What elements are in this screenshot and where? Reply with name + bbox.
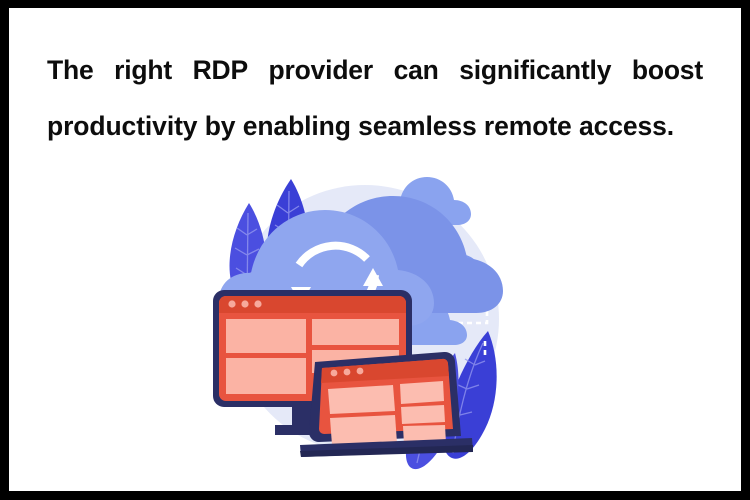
headline-word: The [47,42,94,98]
content-panel [226,319,306,353]
headline-line-2: productivity by enabling seamless remote… [47,98,703,154]
headline-word: provider [269,42,373,98]
window-dots [228,300,261,307]
image-frame: The right RDP provider can significantly… [0,0,750,500]
content-panel [328,385,395,414]
headline-word: right [114,42,172,98]
content-panel [312,319,399,345]
content-panel [400,381,444,404]
headline-word: RDP [193,42,248,98]
window-dot-icon [241,300,248,307]
window-dot-icon [331,370,338,377]
headline-line-1: The right RDP provider can significantly… [47,42,703,98]
headline-word: significantly [459,42,611,98]
headline-word: can [394,42,439,98]
window-dot-icon [344,369,351,376]
image-canvas: The right RDP provider can significantly… [9,8,741,491]
laptop [300,352,473,457]
content-panel [401,405,445,424]
content-panel [226,358,306,394]
headline-word: boost [632,42,703,98]
cloud-remote-desktop-illustration [195,163,535,491]
content-panel [330,415,397,445]
window-dot-icon [254,300,261,307]
page-title: The right RDP provider can significantly… [47,42,703,154]
window-dot-icon [357,368,364,375]
window-dot-icon [228,300,235,307]
